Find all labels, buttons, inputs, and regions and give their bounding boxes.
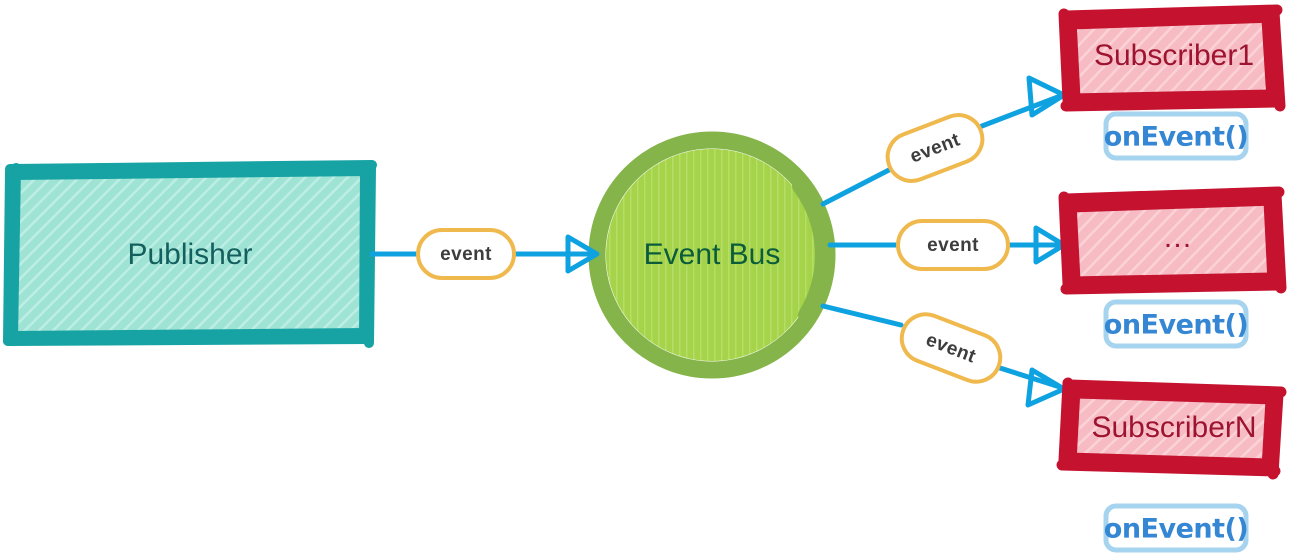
arrow-eventbus-to-sub3-pill: [823, 306, 901, 325]
subscriber-label: …: [1163, 221, 1198, 254]
arrow-sub2-pill-to-subscriber2: [1008, 228, 1064, 262]
diagram-canvas: Publisher Event Bus: [0, 0, 1290, 556]
event-pill-label: event: [440, 244, 492, 265]
event-bus-label: Event Bus: [644, 238, 781, 271]
subscriber-node-1[interactable]: Subscriber1: [1064, 10, 1280, 106]
arrow-sub1-pill-to-subscriber1: [982, 78, 1064, 126]
event-bus-node[interactable]: Event Bus: [597, 140, 827, 370]
subscriber-node-2[interactable]: …: [1064, 192, 1281, 289]
subscriber-node-n[interactable]: SubscriberN: [1062, 383, 1281, 474]
pubsub-diagram: Publisher Event Bus: [0, 0, 1290, 556]
method-badge-n[interactable]: onEvent(): [1104, 506, 1248, 550]
method-badge-label: onEvent(): [1104, 514, 1248, 545]
event-pill-label: event: [927, 235, 979, 256]
method-badge-label: onEvent(): [1104, 122, 1248, 153]
publisher-label: Publisher: [127, 238, 252, 271]
method-badge-2[interactable]: onEvent(): [1104, 302, 1248, 346]
event-pill-publisher[interactable]: event: [418, 230, 514, 278]
event-pill-subscriberN[interactable]: event: [895, 307, 1007, 388]
publisher-node[interactable]: Publisher: [8, 165, 372, 343]
method-badge-1[interactable]: onEvent(): [1104, 114, 1248, 158]
arrow-sub3-pill-to-subscriberN: [1000, 368, 1064, 405]
arrow-eventbus-to-sub1-pill: [823, 170, 889, 204]
arrow-pill-to-eventbus: [512, 237, 597, 271]
event-pill-subscriber2[interactable]: event: [898, 221, 1008, 269]
method-badge-label: onEvent(): [1104, 310, 1248, 341]
event-pill-subscriber1[interactable]: event: [881, 108, 990, 188]
subscriber-label: Subscriber1: [1094, 39, 1254, 72]
subscriber-label: SubscriberN: [1091, 411, 1256, 444]
